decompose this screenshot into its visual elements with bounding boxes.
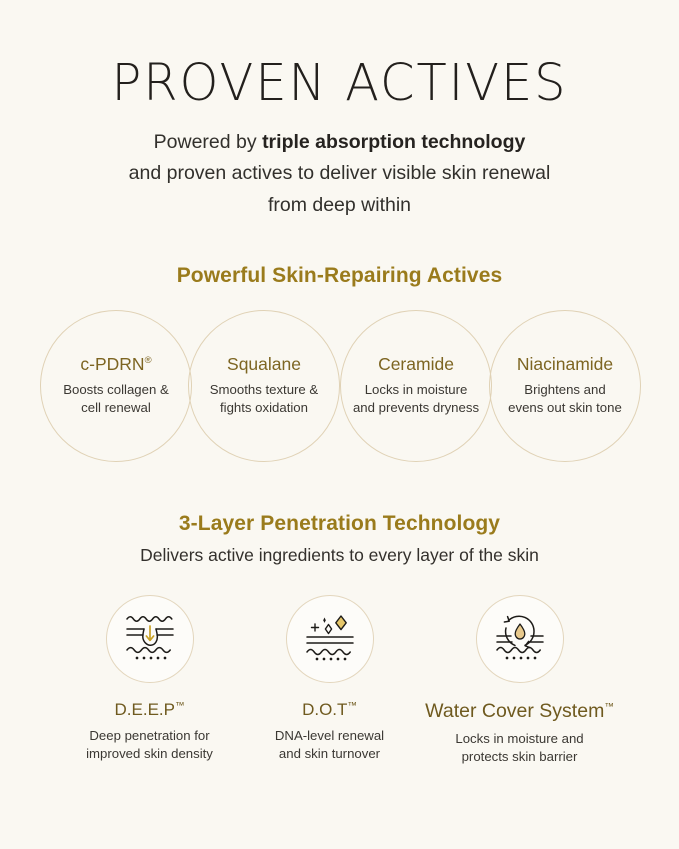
technology-name: D.E.E.P bbox=[115, 700, 175, 719]
active-desc-line-1: Boosts collagen & bbox=[63, 382, 169, 397]
trademark-mark-icon: ™ bbox=[347, 701, 357, 712]
active-title: Ceramide bbox=[378, 355, 454, 374]
technology-desc-line-1: DNA-level renewal bbox=[275, 728, 384, 743]
active-desc-line-1: Brightens and bbox=[524, 382, 605, 397]
technology-item-row: D.E.E.P™ Deep penetration for improved s… bbox=[0, 595, 679, 766]
active-name: Niacinamide bbox=[517, 354, 613, 374]
technology-section: 3-Layer Penetration Technology Delivers … bbox=[0, 512, 679, 766]
technology-subheading: Delivers active ingredients to every lay… bbox=[0, 545, 679, 566]
technology-icon-wrapper bbox=[286, 595, 374, 683]
active-description: Locks in moisture and prevents dryness bbox=[341, 381, 491, 417]
active-name: Ceramide bbox=[378, 354, 454, 374]
active-title: Niacinamide bbox=[517, 355, 613, 374]
technology-name: Water Cover System bbox=[425, 700, 604, 722]
trademark-mark-icon: ™ bbox=[604, 702, 614, 713]
technology-title: Water Cover System™ bbox=[425, 700, 614, 722]
technology-icon-wrapper bbox=[106, 595, 194, 683]
active-desc-line-1: Smooths texture & bbox=[210, 382, 318, 397]
subtitle-line-2: and proven actives to deliver visible sk… bbox=[129, 162, 551, 184]
technology-desc-line-1: Locks in moisture and bbox=[455, 731, 583, 746]
active-desc-line-1: Locks in moisture bbox=[365, 382, 468, 397]
active-description: Smooths texture & fights oxidation bbox=[189, 381, 339, 417]
water-cycle-droplet-icon bbox=[490, 608, 550, 671]
subtitle-line-3: from deep within bbox=[268, 194, 411, 216]
registered-mark-icon: ® bbox=[145, 355, 152, 366]
sparkles-skin-layers-icon bbox=[300, 608, 360, 671]
active-desc-line-2: cell renewal bbox=[81, 400, 151, 415]
technology-title: D.O.T™ bbox=[302, 700, 357, 720]
technology-title: D.E.E.P™ bbox=[115, 700, 185, 720]
active-title: c-PDRN® bbox=[80, 355, 151, 374]
active-circle-niacinamide: Niacinamide Brightens and evens out skin… bbox=[489, 310, 641, 462]
actives-heading: Powerful Skin-Repairing Actives bbox=[0, 221, 679, 288]
active-description: Boosts collagen & cell renewal bbox=[41, 381, 191, 417]
trademark-mark-icon: ™ bbox=[175, 701, 185, 712]
technology-heading: 3-Layer Penetration Technology bbox=[0, 512, 679, 536]
subtitle-line-1: Powered by triple absorption technology bbox=[154, 131, 526, 153]
technology-desc-line-2: and skin turnover bbox=[279, 746, 380, 761]
active-name: Squalane bbox=[227, 354, 301, 374]
header-subtitle: Powered by triple absorption technology … bbox=[0, 127, 679, 222]
active-circle-c-pdrn: c-PDRN® Boosts collagen & cell renewal bbox=[40, 310, 192, 462]
technology-desc-line-2: improved skin density bbox=[86, 746, 213, 761]
active-desc-line-2: and prevents dryness bbox=[353, 400, 479, 415]
technology-desc-line-2: protects skin barrier bbox=[462, 749, 578, 764]
active-name: c-PDRN bbox=[80, 354, 144, 374]
actives-section: Powerful Skin-Repairing Actives c-PDRN® … bbox=[0, 221, 679, 462]
proven-actives-infographic: PROVEN ACTIVES Powered by triple absorpt… bbox=[0, 0, 679, 849]
active-title: Squalane bbox=[227, 355, 301, 374]
skin-layers-droplet-arrow-icon bbox=[120, 608, 180, 671]
active-desc-line-2: fights oxidation bbox=[220, 400, 308, 415]
technology-desc-line-1: Deep penetration for bbox=[89, 728, 209, 743]
technology-item-water-cover-system: Water Cover System™ Locks in moisture an… bbox=[420, 595, 620, 766]
page-title: PROVEN ACTIVES bbox=[10, 0, 669, 111]
actives-circle-row: c-PDRN® Boosts collagen & cell renewal S… bbox=[0, 310, 679, 462]
technology-item-deep: D.E.E.P™ Deep penetration for improved s… bbox=[60, 595, 240, 764]
technology-name: D.O.T bbox=[302, 700, 347, 719]
technology-description: Locks in moisture and protects skin barr… bbox=[455, 730, 583, 767]
technology-description: Deep penetration for improved skin densi… bbox=[86, 727, 213, 764]
active-description: Brightens and evens out skin tone bbox=[490, 381, 640, 417]
technology-description: DNA-level renewal and skin turnover bbox=[275, 727, 384, 764]
technology-icon-wrapper bbox=[476, 595, 564, 683]
subtitle-line-1-bold: triple absorption technology bbox=[262, 131, 525, 153]
technology-item-dot: D.O.T™ DNA-level renewal and skin turnov… bbox=[240, 595, 420, 764]
active-desc-line-2: evens out skin tone bbox=[508, 400, 622, 415]
subtitle-line-1-prefix: Powered by bbox=[154, 131, 262, 153]
active-circle-squalane: Squalane Smooths texture & fights oxidat… bbox=[188, 310, 340, 462]
active-circle-ceramide: Ceramide Locks in moisture and prevents … bbox=[340, 310, 492, 462]
